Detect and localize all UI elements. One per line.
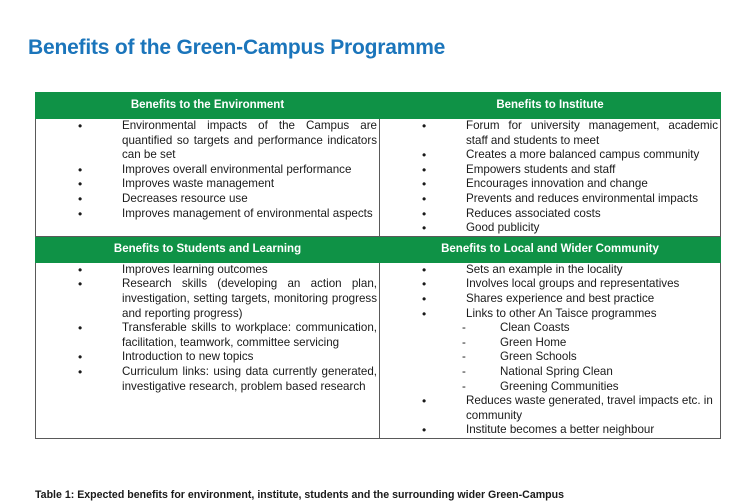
list-item: Introduction to new topics	[36, 350, 379, 365]
sub-list-item: Green Home	[466, 336, 718, 351]
list-item: Links to other An Taisce programmes Clea…	[380, 307, 720, 395]
sub-list-item-text: National Spring Clean	[500, 365, 613, 378]
body-cell-students: Improves learning outcomes Research skil…	[36, 262, 380, 438]
list-item: Sets an example in the locality	[380, 263, 720, 278]
list-item: Improves learning outcomes	[36, 263, 379, 278]
header-label-students: Benefits to Students and Learning	[36, 237, 379, 262]
list-item-text: Creates a more balanced campus community	[466, 148, 718, 163]
list-item-text: Research skills (developing an action pl…	[122, 277, 377, 321]
list-item-text: Good publicity	[466, 221, 718, 236]
table-header-row-2: Benefits to Students and Learning Benefi…	[36, 236, 721, 262]
table-body-row-1: Environmental impacts of the Campus are …	[36, 119, 721, 237]
list-item-text: Decreases resource use	[122, 192, 377, 207]
body-cell-institute: Forum for university management, academi…	[380, 119, 721, 237]
header-cell-institute: Benefits to Institute	[380, 93, 721, 119]
list-item: Curriculum links: using data currently g…	[36, 365, 379, 394]
list-item-text: Curriculum links: using data currently g…	[122, 365, 377, 394]
benefit-list-community: Sets an example in the locality Involves…	[380, 263, 720, 438]
sub-list-item: Greening Communities	[466, 380, 718, 395]
list-item: Improves management of environmental asp…	[36, 207, 379, 222]
list-item-text: Improves overall environmental performan…	[122, 163, 377, 178]
list-item-text: Institute becomes a better neighbour	[466, 423, 718, 438]
list-item-text: Shares experience and best practice	[466, 292, 718, 307]
list-item: Reduces waste generated, travel impacts …	[380, 394, 720, 423]
list-item: Encourages innovation and change	[380, 177, 720, 192]
list-item-text: Forum for university management, academi…	[466, 119, 718, 148]
list-item: Transferable skills to workplace: commun…	[36, 321, 379, 350]
list-item: Creates a more balanced campus community	[380, 148, 720, 163]
list-item-text: Links to other An Taisce programmes	[466, 307, 718, 322]
benefit-list-environment: Environmental impacts of the Campus are …	[36, 119, 379, 221]
table-header-row-1: Benefits to the Environment Benefits to …	[36, 93, 721, 119]
header-label-community: Benefits to Local and Wider Community	[380, 237, 720, 262]
sub-list-item-text: Green Schools	[500, 350, 577, 363]
list-item-text: Encourages innovation and change	[466, 177, 718, 192]
list-item: Prevents and reduces environmental impac…	[380, 192, 720, 207]
table-caption: Table 1: Expected benefits for environme…	[35, 489, 725, 501]
list-item: Forum for university management, academi…	[380, 119, 720, 148]
list-item-text: Improves management of environmental asp…	[122, 207, 377, 222]
list-item: Shares experience and best practice	[380, 292, 720, 307]
body-cell-environment: Environmental impacts of the Campus are …	[36, 119, 380, 237]
benefit-list-students: Improves learning outcomes Research skil…	[36, 263, 379, 394]
sub-list-item-text: Clean Coasts	[500, 321, 570, 334]
list-item-text: Sets an example in the locality	[466, 263, 718, 278]
list-item-text: Improves learning outcomes	[122, 263, 377, 278]
sub-list-item: Clean Coasts	[466, 321, 718, 336]
list-item: Decreases resource use	[36, 192, 379, 207]
list-item: Empowers students and staff	[380, 163, 720, 178]
list-item-text: Transferable skills to workplace: commun…	[122, 321, 377, 350]
header-cell-students: Benefits to Students and Learning	[36, 236, 380, 262]
list-item: Institute becomes a better neighbour	[380, 423, 720, 438]
list-item: Environmental impacts of the Campus are …	[36, 119, 379, 163]
list-item-text: Improves waste management	[122, 177, 377, 192]
header-label-environment: Benefits to the Environment	[36, 93, 379, 118]
list-item-text: Reduces associated costs	[466, 207, 718, 222]
header-cell-environment: Benefits to the Environment	[36, 93, 380, 119]
header-cell-community: Benefits to Local and Wider Community	[380, 236, 721, 262]
list-item-text: Environmental impacts of the Campus are …	[122, 119, 377, 163]
sub-list-item: National Spring Clean	[466, 365, 718, 380]
benefit-list-institute: Forum for university management, academi…	[380, 119, 720, 236]
list-item-text: Prevents and reduces environmental impac…	[466, 192, 718, 207]
table-body-row-2: Improves learning outcomes Research skil…	[36, 262, 721, 438]
list-item: Improves overall environmental performan…	[36, 163, 379, 178]
list-item: Good publicity	[380, 221, 720, 236]
list-item-text: Reduces waste generated, travel impacts …	[466, 394, 718, 423]
sub-list-item: Green Schools	[466, 350, 718, 365]
benefits-table: Benefits to the Environment Benefits to …	[35, 92, 721, 439]
list-item-text: Involves local groups and representative…	[466, 277, 718, 292]
list-item-text: Empowers students and staff	[466, 163, 718, 178]
list-item-text: Introduction to new topics	[122, 350, 377, 365]
body-cell-community: Sets an example in the locality Involves…	[380, 262, 721, 438]
list-item: Improves waste management	[36, 177, 379, 192]
list-item: Involves local groups and representative…	[380, 277, 720, 292]
sub-list-item-text: Green Home	[500, 336, 566, 349]
sub-list-an-taisce-programmes: Clean Coasts Green Home Green Schools Na…	[466, 321, 718, 394]
header-label-institute: Benefits to Institute	[380, 93, 720, 118]
list-item: Research skills (developing an action pl…	[36, 277, 379, 321]
page-title: Benefits of the Green-Campus Programme	[28, 36, 445, 60]
sub-list-item-text: Greening Communities	[500, 380, 619, 393]
list-item: Reduces associated costs	[380, 207, 720, 222]
